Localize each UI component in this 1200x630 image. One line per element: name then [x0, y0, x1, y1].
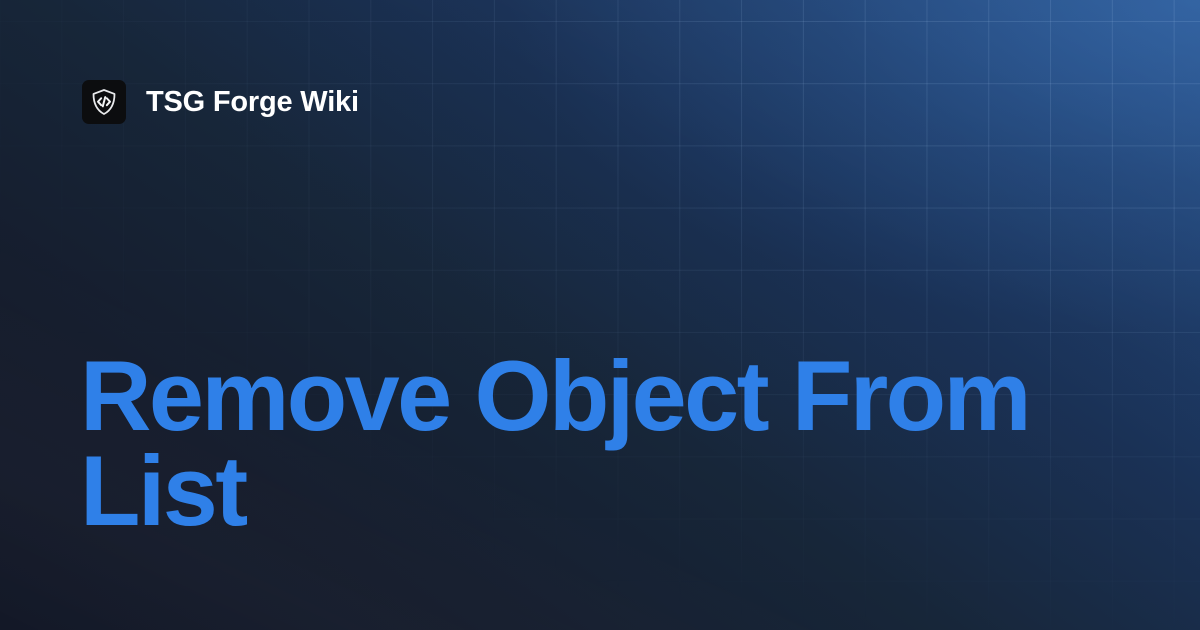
shield-code-icon: [82, 80, 126, 124]
og-card: TSG Forge Wiki Remove Object From List: [0, 0, 1200, 630]
site-name: TSG Forge Wiki: [146, 88, 359, 117]
brand-header: TSG Forge Wiki: [82, 80, 359, 124]
page-title: Remove Object From List: [80, 348, 1030, 538]
card-content: TSG Forge Wiki Remove Object From List: [0, 0, 1200, 630]
